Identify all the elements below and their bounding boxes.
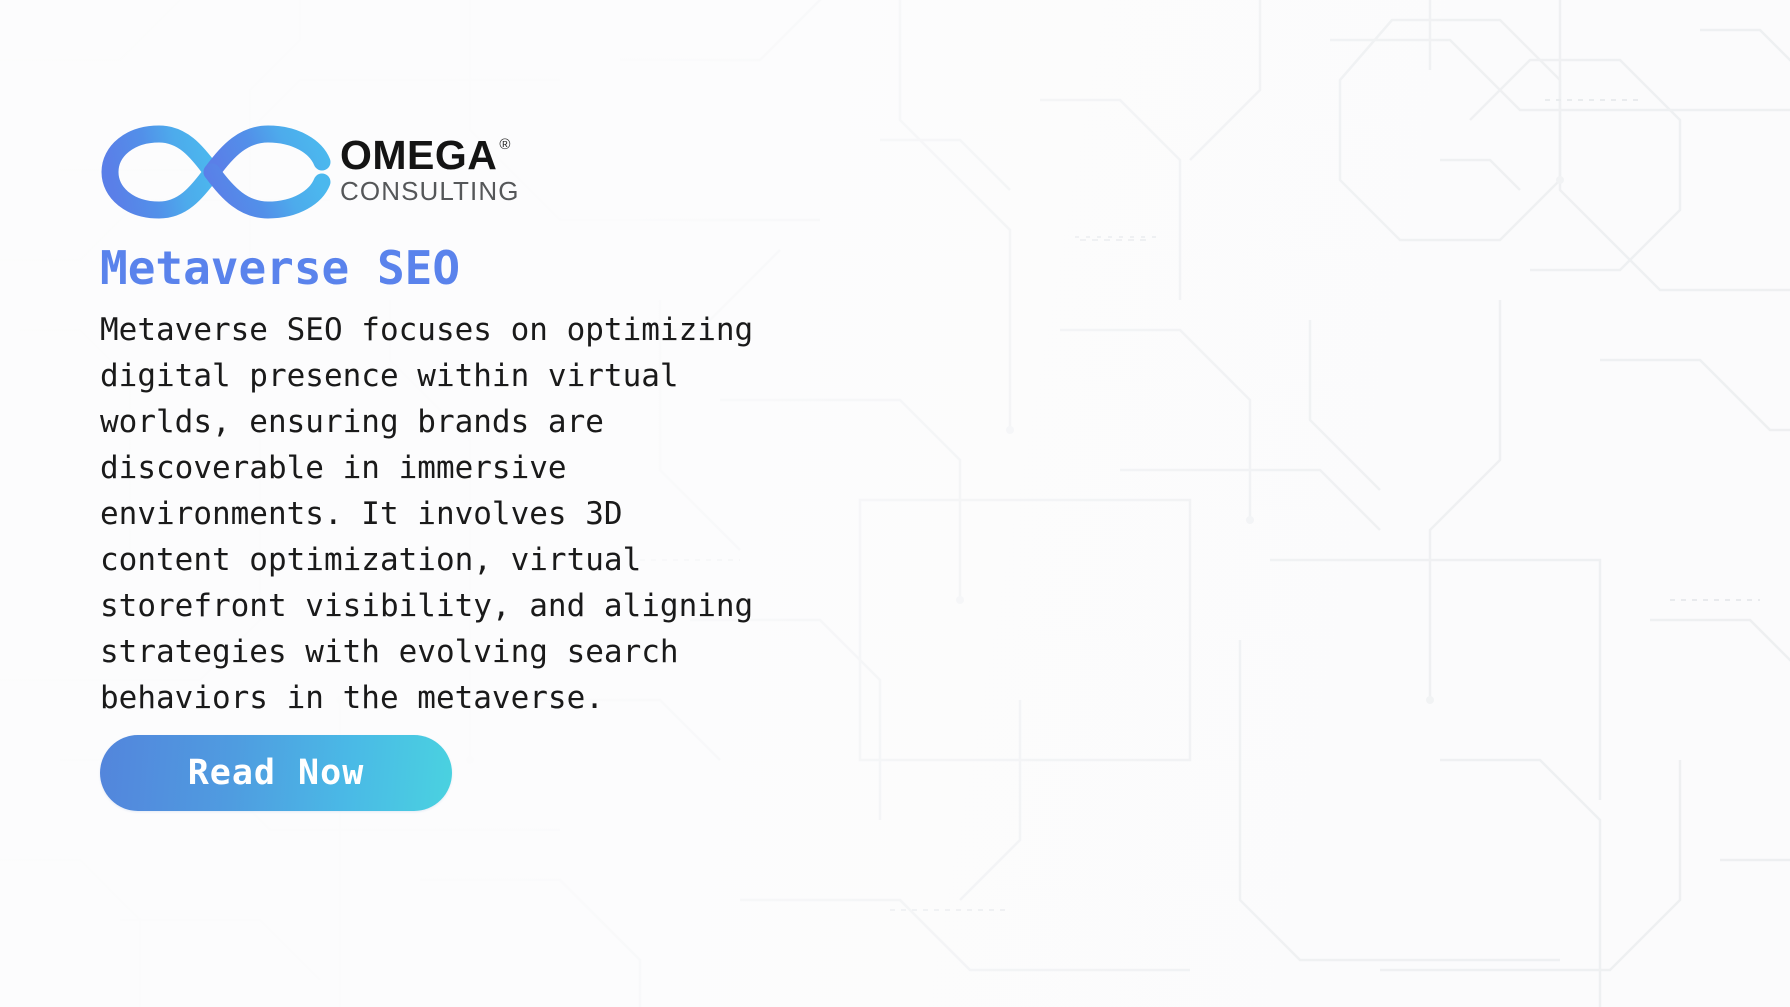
content-block: OMEGA ® CONSULTING Metaverse SEO Metaver… [100,120,960,811]
brand-name-primary-text: OMEGA [340,135,497,176]
slide-canvas: OMEGA ® CONSULTING Metaverse SEO Metaver… [0,0,1790,1007]
page-title: Metaverse SEO [100,242,960,295]
brand-name-secondary: CONSULTING [340,177,520,206]
infinity-logo-icon [100,120,332,224]
brand-logo-lockup[interactable]: OMEGA ® CONSULTING [100,120,960,224]
brand-wordmark: OMEGA ® CONSULTING [340,135,520,208]
read-now-button[interactable]: Read Now [100,735,452,811]
cta-container: Read Now [100,735,960,811]
registered-trademark-icon: ® [499,137,511,152]
body-description: Metaverse SEO focuses on optimizing digi… [100,307,860,721]
brand-name-primary: OMEGA ® [340,135,520,176]
